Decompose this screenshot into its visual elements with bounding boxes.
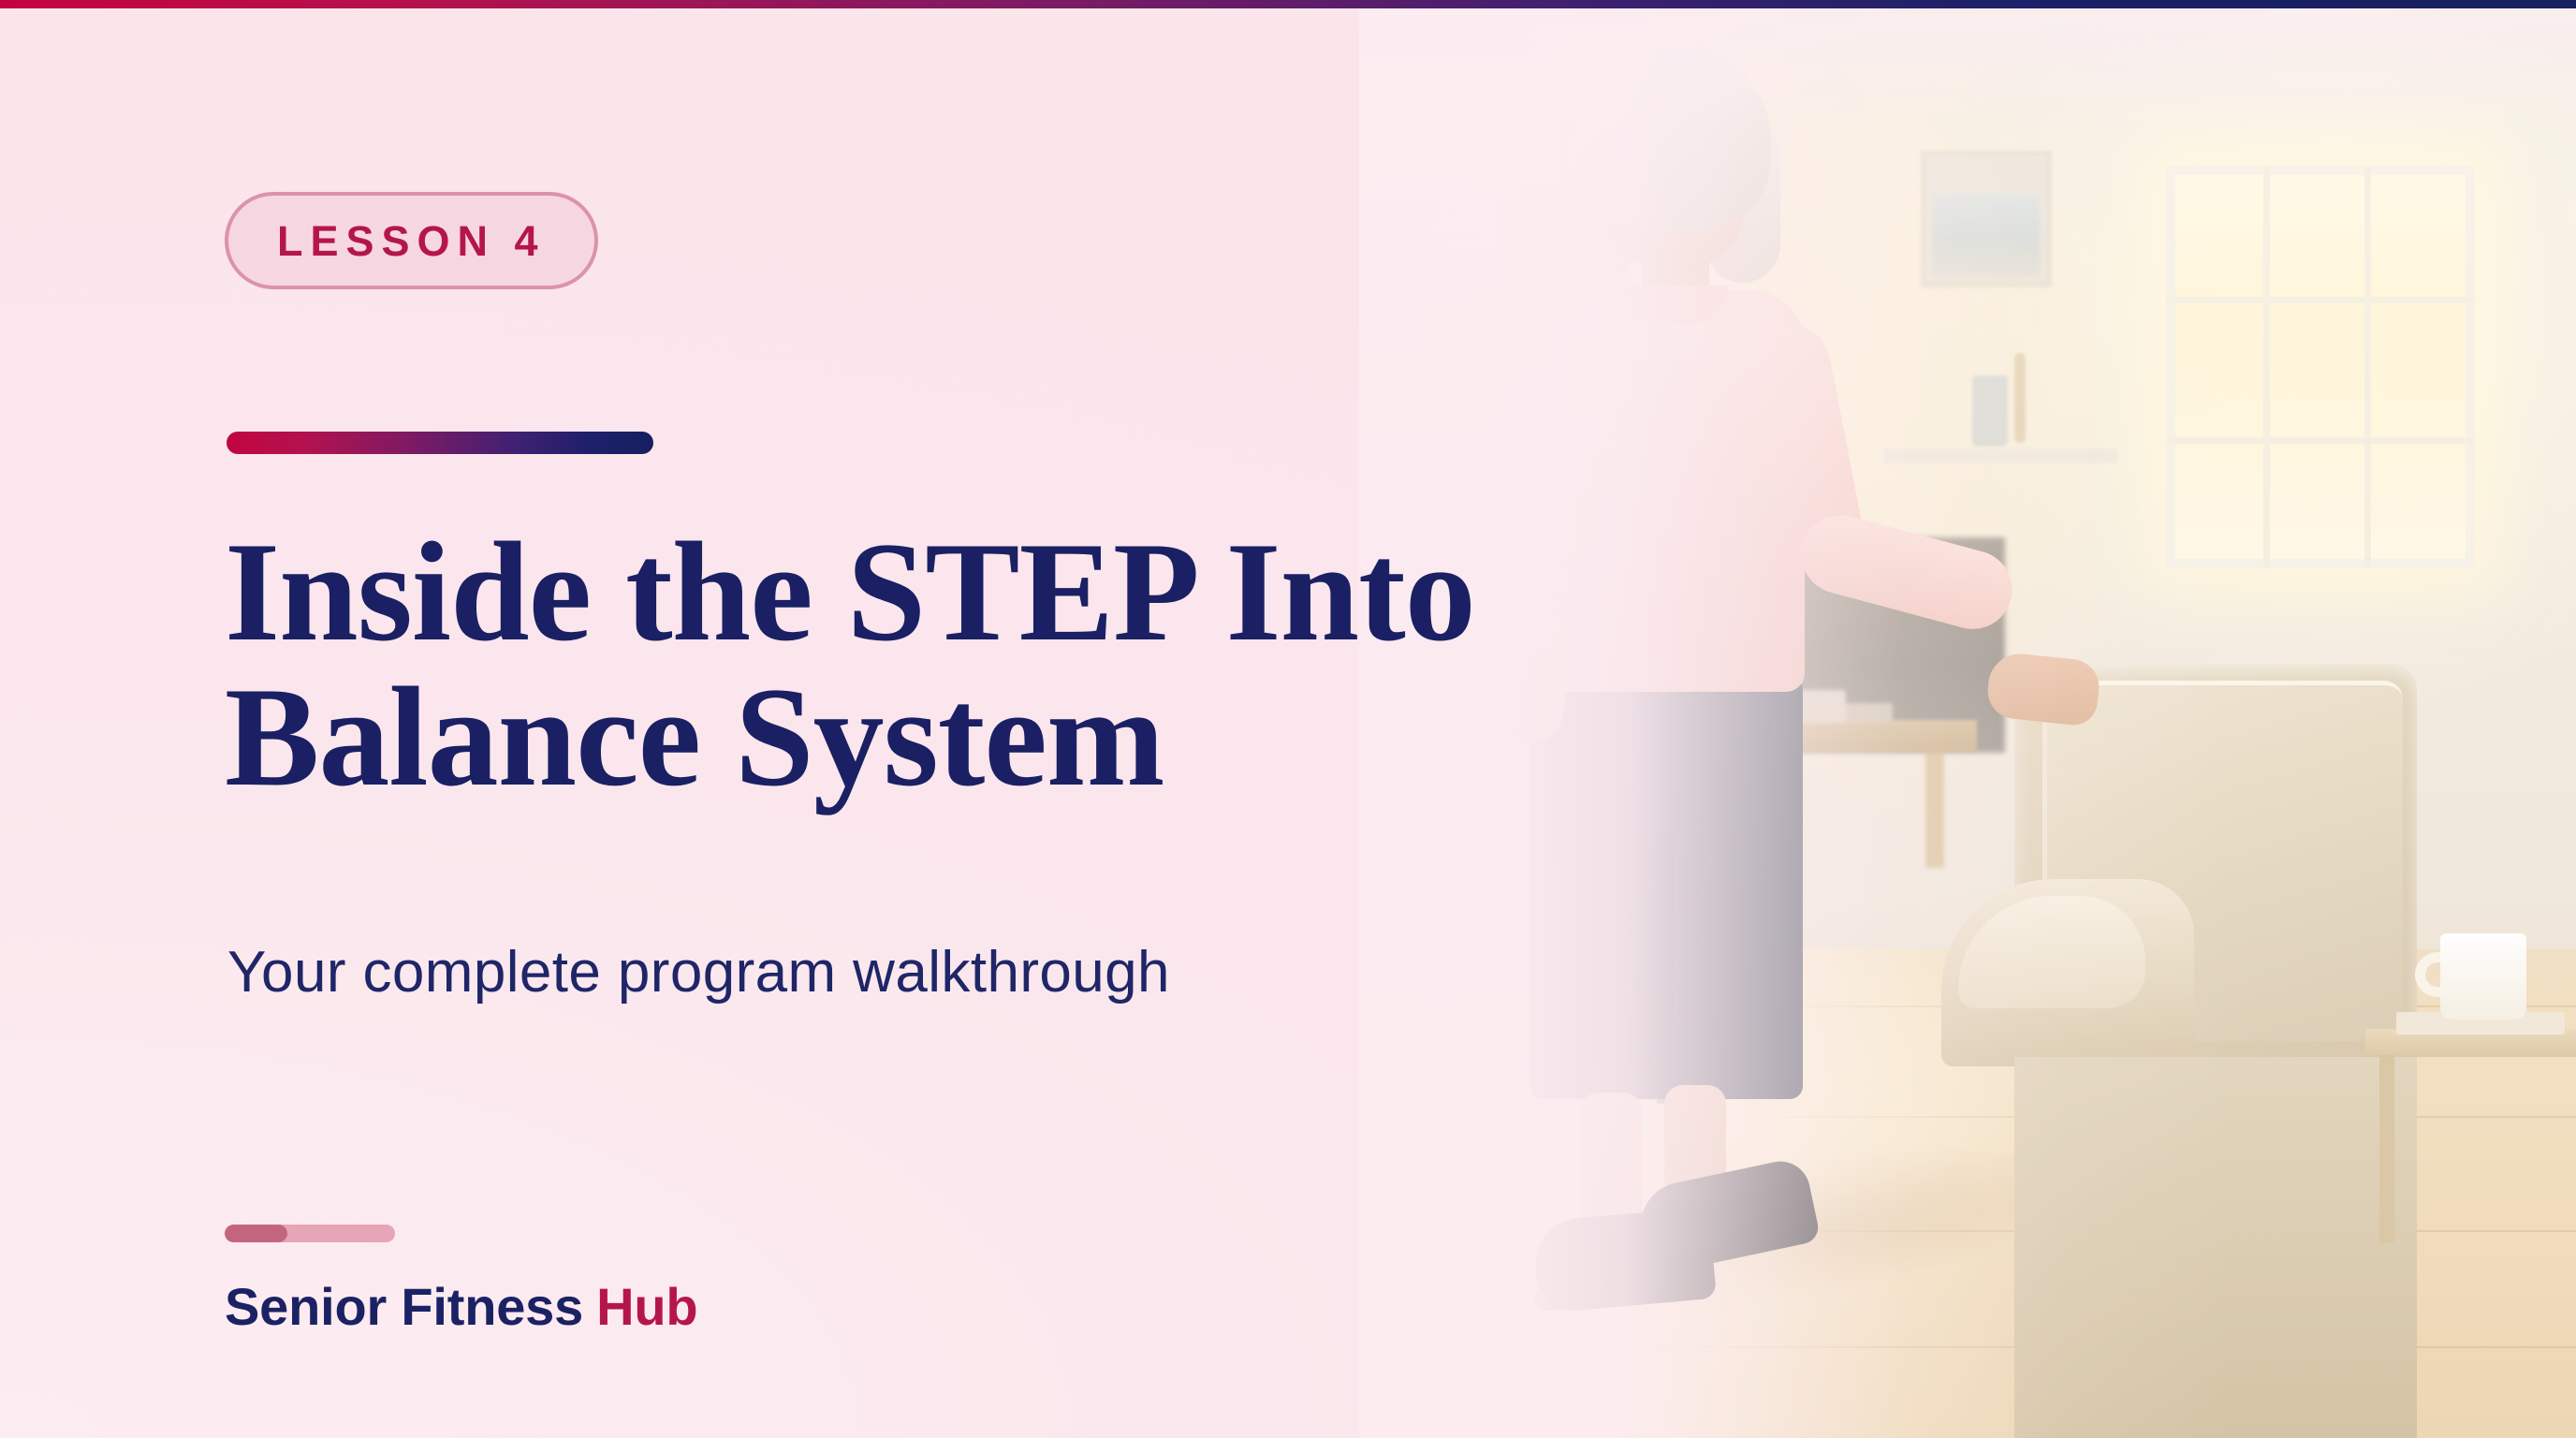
progress-bar	[225, 1225, 395, 1242]
lesson-title-slide: LESSON 4 Inside the STEP Into Balance Sy…	[0, 0, 2576, 1438]
content-column: LESSON 4 Inside the STEP Into Balance Sy…	[225, 0, 1554, 1438]
brand-accent: Hub	[596, 1277, 697, 1336]
footer-brand-block: Senior FitnessHub	[225, 1225, 697, 1336]
lesson-badge[interactable]: LESSON 4	[225, 192, 598, 289]
page-title: Inside the STEP Into Balance System	[225, 520, 1591, 810]
brand-name: Senior Fitness	[225, 1277, 583, 1336]
accent-bar	[227, 432, 653, 454]
page-subtitle: Your complete program walkthrough	[227, 939, 1170, 1005]
top-accent-rule	[0, 0, 2576, 8]
brand-lockup: Senior FitnessHub	[225, 1278, 697, 1336]
progress-bar-fill	[225, 1225, 287, 1242]
headline-line-2: Balance System	[225, 665, 1591, 810]
lesson-badge-label: LESSON 4	[277, 220, 546, 262]
headline-line-1: Inside the STEP Into	[225, 520, 1591, 665]
